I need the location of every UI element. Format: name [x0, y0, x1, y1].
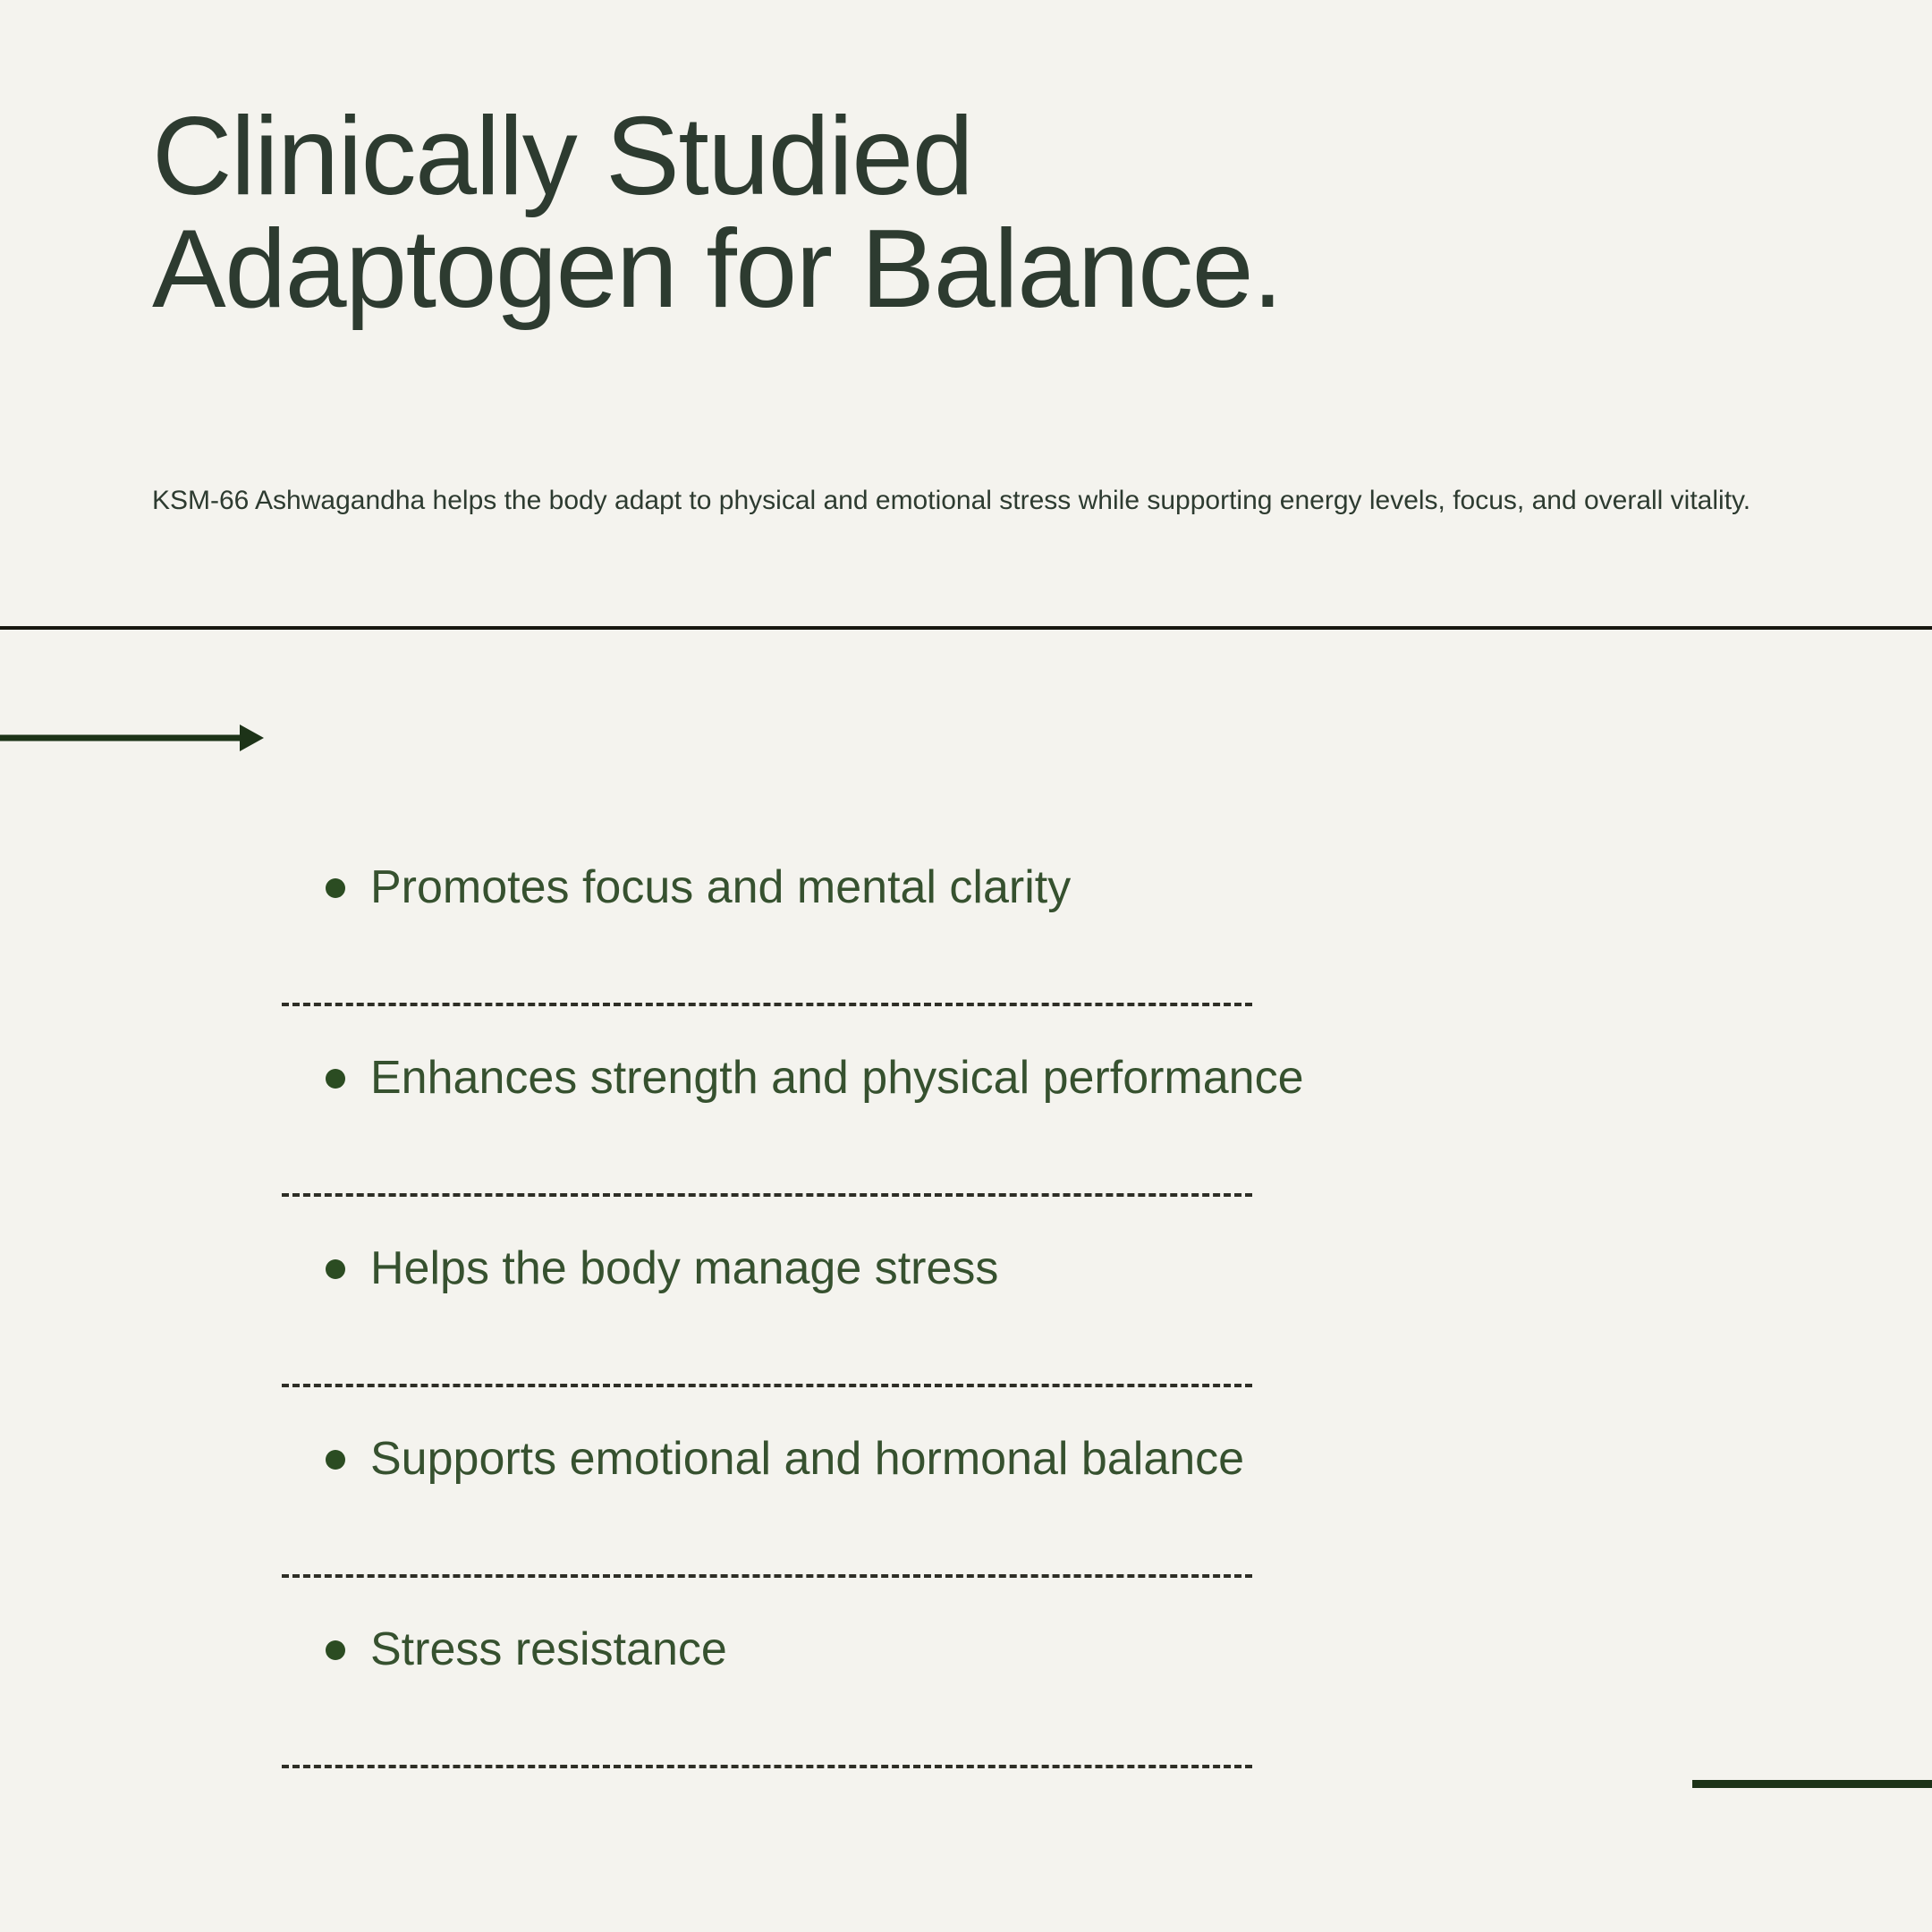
benefit-line: Enhances strength and physical performan… [282, 1031, 1713, 1125]
arrow-right-icon [0, 716, 268, 760]
benefit-line: Promotes focus and mental clarity [282, 841, 1713, 935]
horizontal-rule [0, 626, 1932, 630]
bullet-dot-icon [326, 1069, 345, 1089]
accent-bar [1692, 1780, 1932, 1788]
bullet-dot-icon [326, 1259, 345, 1279]
dashed-separator [282, 1193, 1252, 1197]
benefit-line: Helps the body manage stress [282, 1222, 1713, 1316]
bullet-dot-icon [326, 878, 345, 898]
dashed-separator [282, 1574, 1252, 1578]
benefit-label: Supports emotional and hormonal balance [370, 1433, 1244, 1487]
benefit-label: Enhances strength and physical performan… [370, 1052, 1304, 1106]
header-block: Clinically Studied Adaptogen for Balance… [152, 100, 1816, 326]
list-item: Supports emotional and hormonal balance [282, 1412, 1713, 1603]
benefit-line: Stress resistance [282, 1603, 1713, 1697]
list-item: Helps the body manage stress [282, 1222, 1713, 1412]
dashed-separator [282, 1384, 1252, 1387]
benefit-line: Supports emotional and hormonal balance [282, 1412, 1713, 1506]
bullet-dot-icon [326, 1450, 345, 1470]
list-item: Enhances strength and physical performan… [282, 1031, 1713, 1222]
list-item: Promotes focus and mental clarity [282, 841, 1713, 1031]
slide-canvas: Clinically Studied Adaptogen for Balance… [0, 0, 1932, 1932]
benefit-label: Helps the body manage stress [370, 1242, 998, 1296]
subtitle-paragraph: KSM-66 Ashwagandha helps the body adapt … [152, 480, 1771, 521]
dashed-separator [282, 1003, 1252, 1006]
benefits-list: Promotes focus and mental clarity Enhanc… [282, 841, 1713, 1793]
dashed-separator [282, 1765, 1252, 1768]
benefit-label: Stress resistance [370, 1623, 727, 1677]
page-title: Clinically Studied Adaptogen for Balance… [152, 100, 1816, 326]
bullet-dot-icon [326, 1640, 345, 1660]
benefit-label: Promotes focus and mental clarity [370, 861, 1071, 915]
list-item: Stress resistance [282, 1603, 1713, 1793]
